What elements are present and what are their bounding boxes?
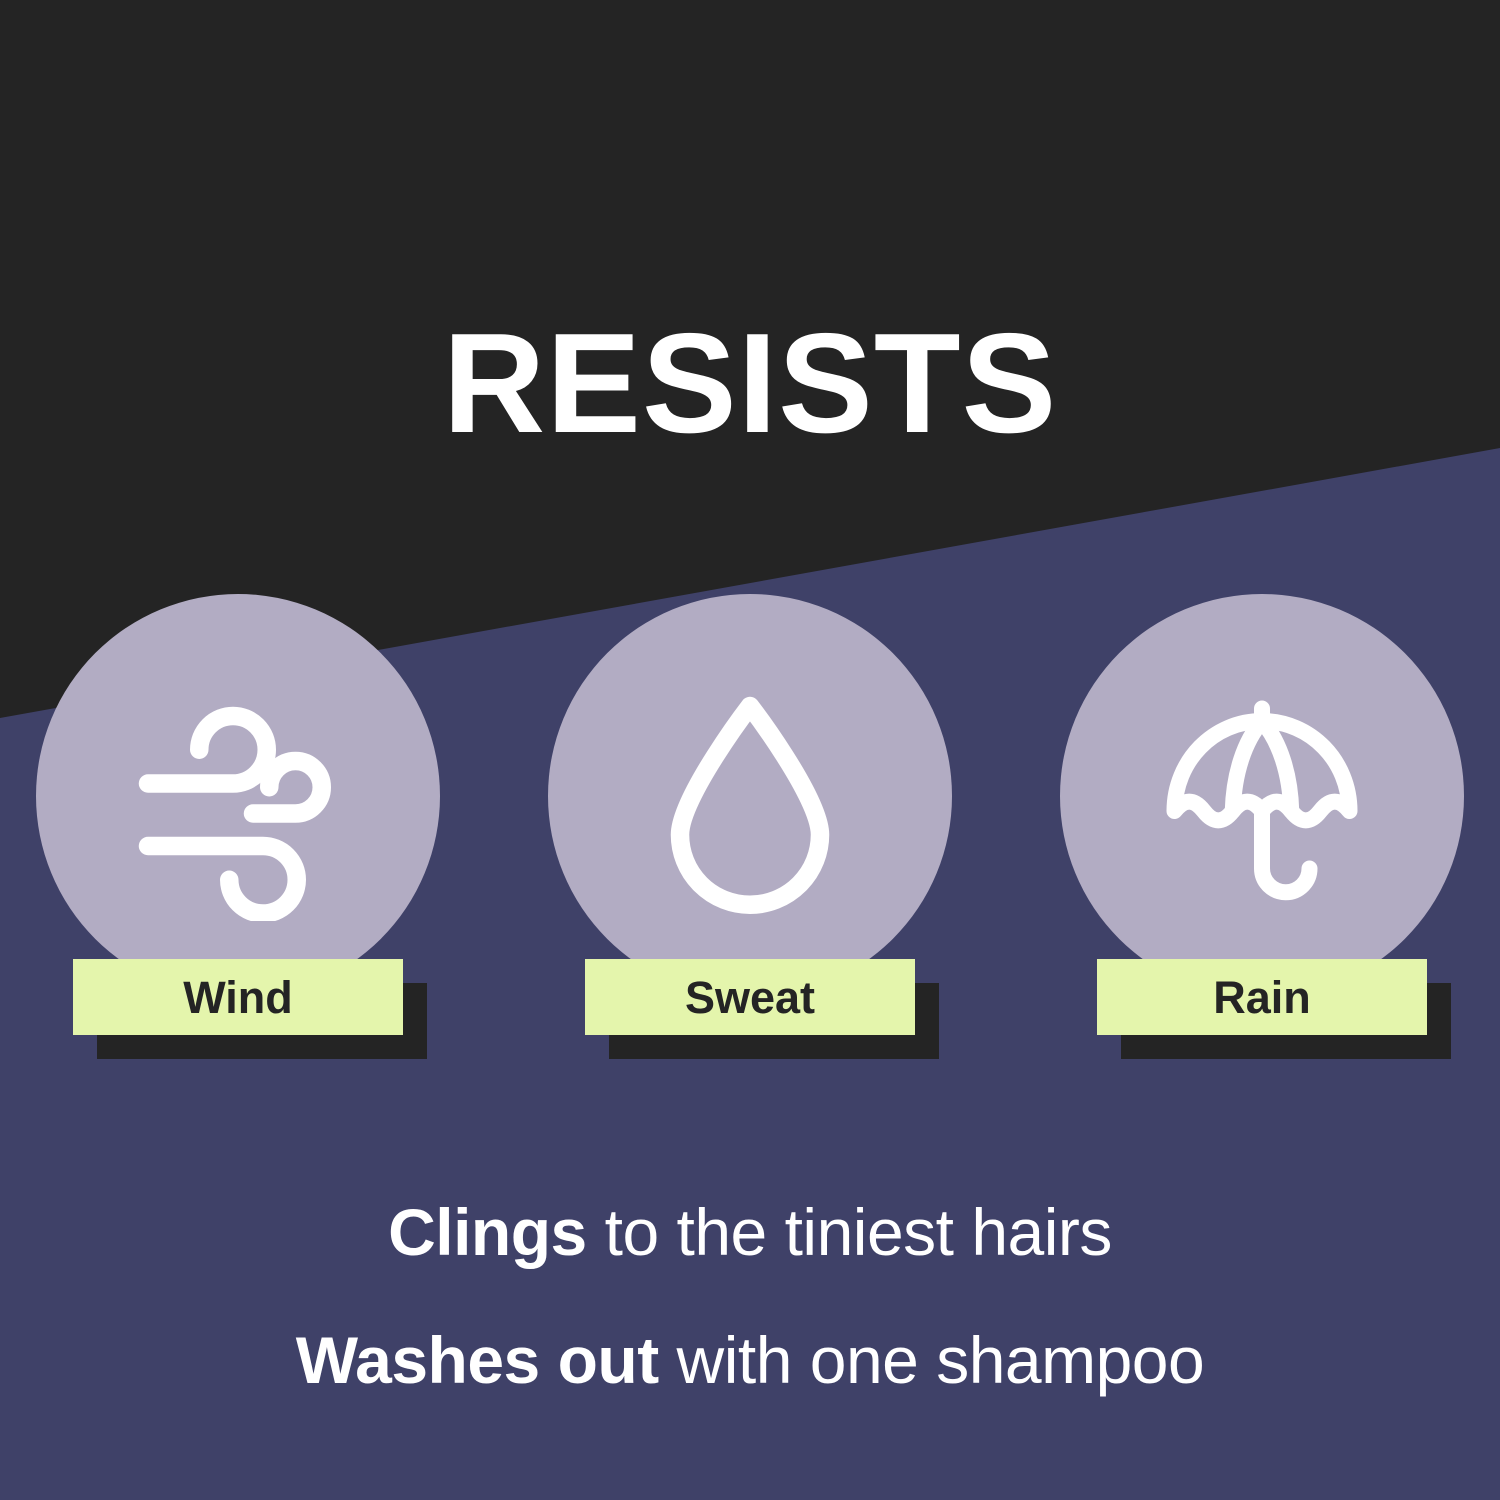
feature-item-rain: Rain (1060, 594, 1464, 1035)
page-title: RESISTS (0, 313, 1500, 455)
water-drop-icon (625, 671, 875, 921)
feature-label-wrap-wind: Wind (73, 959, 403, 1035)
feature-item-wind: Wind (36, 594, 440, 1035)
feature-label-wrap-rain: Rain (1097, 959, 1427, 1035)
feature-list: Wind Sweat (0, 594, 1500, 1064)
wind-icon (113, 671, 363, 921)
feature-icon-circle-wind (36, 594, 440, 998)
feature-label-chip-rain[interactable]: Rain (1097, 959, 1427, 1035)
benefit-line-2: Washes out with one shampoo (0, 1296, 1500, 1424)
chip-label-text: Rain (1213, 975, 1311, 1020)
umbrella-icon (1137, 671, 1387, 921)
resists-promo-poster: RESISTS Wind (0, 0, 1500, 1500)
feature-label-wrap-sweat: Sweat (585, 959, 915, 1035)
chip-label-text: Sweat (685, 975, 815, 1020)
feature-label-chip-wind[interactable]: Wind (73, 959, 403, 1035)
feature-icon-circle-rain (1060, 594, 1464, 998)
feature-label-chip-sweat[interactable]: Sweat (585, 959, 915, 1035)
benefit-line-2-strong: Washes out (296, 1323, 659, 1397)
benefit-line-1-rest: to the tiniest hairs (587, 1195, 1112, 1269)
benefit-line-1-strong: Clings (388, 1195, 587, 1269)
benefit-copy-block: Clings to the tiniest hairs Washes out w… (0, 1168, 1500, 1424)
benefit-line-1: Clings to the tiniest hairs (0, 1168, 1500, 1296)
feature-item-sweat: Sweat (548, 594, 952, 1035)
feature-icon-circle-sweat (548, 594, 952, 998)
benefit-line-2-rest: with one shampoo (659, 1323, 1205, 1397)
chip-label-text: Wind (183, 975, 293, 1020)
